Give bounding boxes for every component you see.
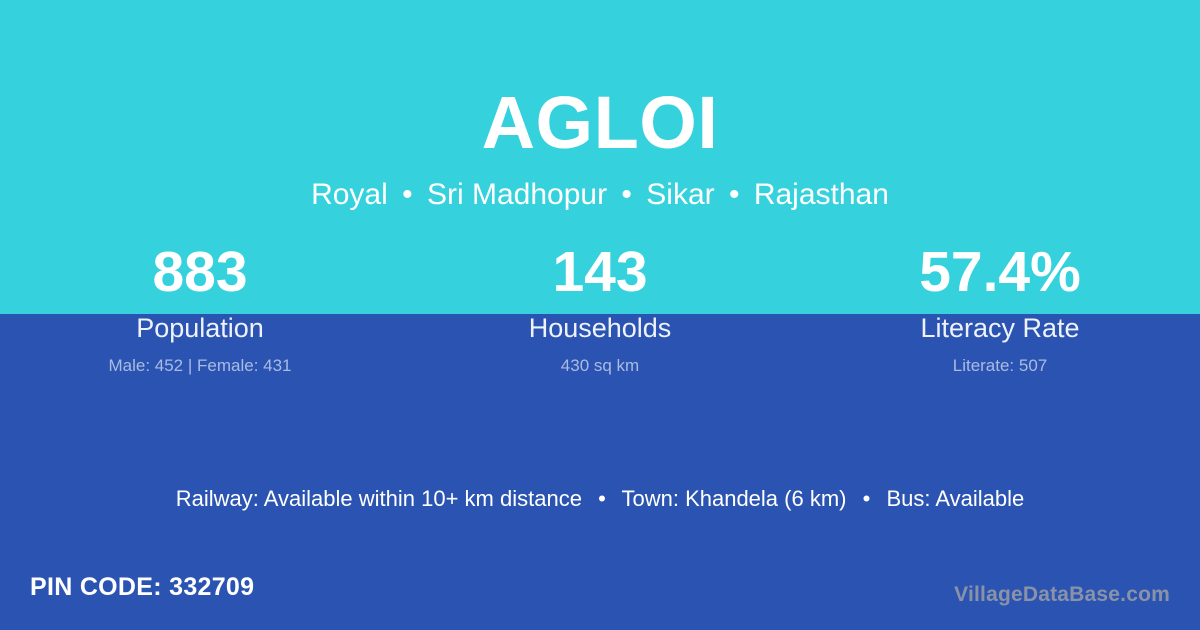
stats-row: 883 Population Male: 452 | Female: 431 1… — [0, 244, 1200, 374]
stat-population: 883 Population Male: 452 | Female: 431 — [0, 244, 400, 374]
amenity-separator: • — [588, 486, 616, 512]
stat-sublabel: 430 sq km — [400, 357, 800, 374]
amenity-separator: • — [853, 486, 881, 512]
breadcrumb-separator: • — [723, 178, 746, 211]
amenity-town: Town: Khandela (6 km) — [621, 486, 846, 511]
breadcrumb-item-block: Sri Madhopur — [427, 178, 607, 211]
site-brand-watermark: VillageDataBase.com — [954, 584, 1170, 605]
breadcrumb-separator: • — [396, 178, 419, 211]
stat-sublabel: Literate: 507 — [800, 357, 1200, 374]
amenity-bus: Bus: Available — [886, 486, 1024, 511]
stat-value: 57.4% — [800, 244, 1200, 304]
breadcrumb-separator: • — [615, 178, 638, 211]
village-info-card: AGLOI Royal • Sri Madhopur • Sikar • Raj… — [0, 0, 1200, 630]
stat-label: Literacy Rate — [800, 315, 1200, 342]
stat-value: 883 — [0, 244, 400, 304]
stat-value: 143 — [400, 244, 800, 304]
amenities-line: Railway: Available within 10+ km distanc… — [0, 486, 1200, 512]
breadcrumb-item-state: Rajasthan — [754, 178, 889, 211]
stat-sublabel: Male: 452 | Female: 431 — [0, 357, 400, 374]
stat-households: 143 Households 430 sq km — [400, 244, 800, 374]
card-header: AGLOI Royal • Sri Madhopur • Sikar • Raj… — [0, 0, 1200, 211]
stat-label: Population — [0, 315, 400, 342]
pin-code-label: PIN CODE: 332709 — [30, 575, 254, 600]
breadcrumb-item-village: Royal — [311, 178, 388, 211]
breadcrumb-item-district: Sikar — [646, 178, 714, 211]
breadcrumb: Royal • Sri Madhopur • Sikar • Rajasthan — [0, 178, 1200, 211]
amenity-railway: Railway: Available within 10+ km distanc… — [176, 486, 582, 511]
stat-literacy-rate: 57.4% Literacy Rate Literate: 507 — [800, 244, 1200, 374]
stat-label: Households — [400, 315, 800, 342]
page-title: AGLOI — [0, 0, 1200, 160]
